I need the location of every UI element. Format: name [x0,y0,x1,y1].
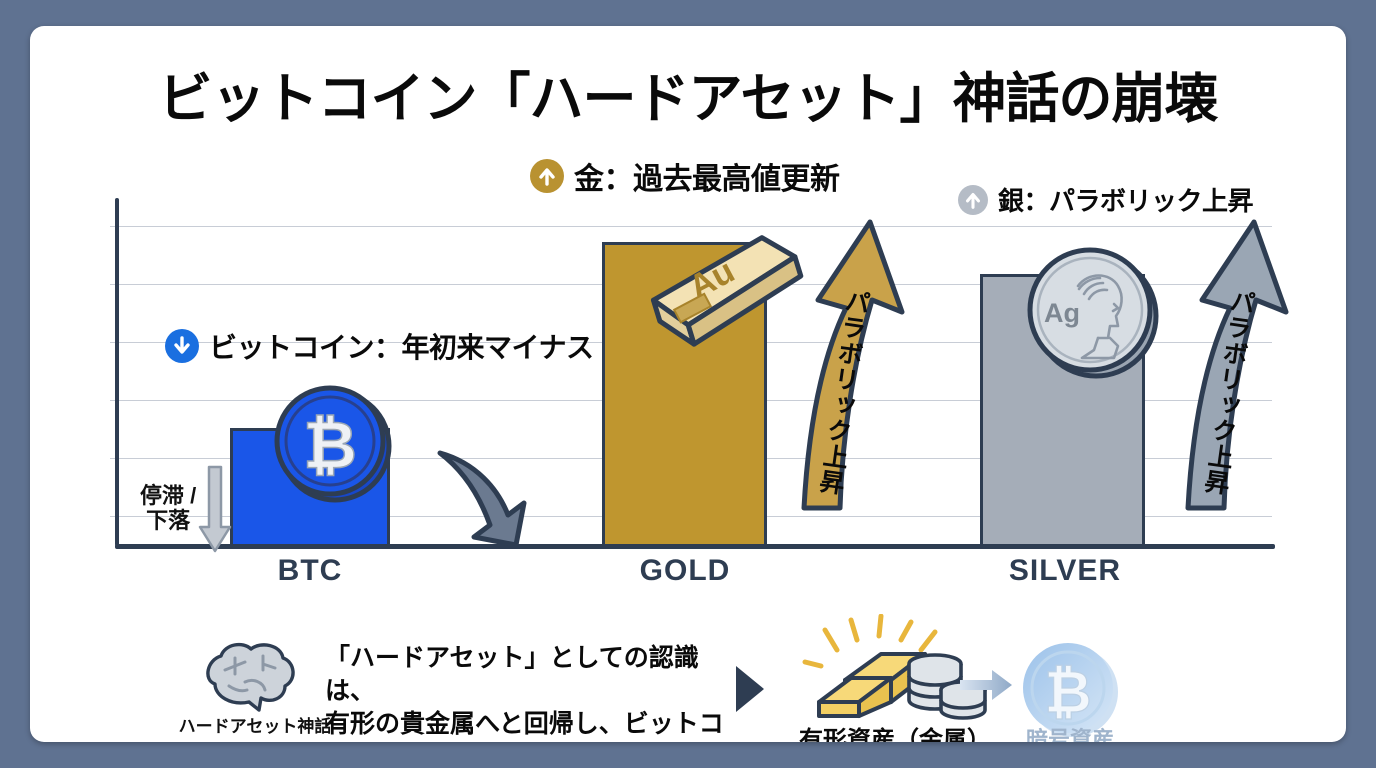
decline-arrow-icon [428,441,538,556]
summary-text: 「ハードアセット」としての認識は、 有形の貴金属へと回帰し、ビットコイン の優位… [325,642,745,742]
infographic-frame: ビットコイン「ハードアセット」神話の崩壊 ₿ [0,0,1376,768]
svg-text:Ag: Ag [1044,298,1080,328]
svg-text:₿: ₿ [303,408,357,482]
crypto-asset-label: 暗号資産 [990,722,1150,742]
callout-gold-label: 金：過去最高値更新 [574,154,840,198]
brain-icon-label: ハードアセット神話 [170,712,340,737]
summary-line-2: 有形の貴金属へと回帰し、ビットコイン [325,708,745,742]
gold-bar-icon: Au [626,222,816,352]
callout-gold: 金：過去最高値更新 [530,154,840,198]
callout-btc-label: ビットコイン：年初来マイナス [209,326,593,366]
stagnation-line2: 下落 [140,509,196,534]
stagnation-line1: 停滞 / [140,484,196,509]
play-triangle-icon [730,662,770,716]
axis-label-gold: GOLD [565,554,805,588]
arrow-up-circle-icon [530,159,564,193]
bitcoin-coin-icon: ₿ [273,384,393,504]
callout-silver: 銀：パラボリック上昇 [958,181,1253,218]
summary-line-1: 「ハードアセット」としての認識は、 [325,642,745,708]
stagnation-note: 停滞 / 下落 [140,463,232,555]
arrow-down-circle-icon [165,329,199,363]
infographic-card: ビットコイン「ハードアセット」神話の崩壊 ₿ [30,26,1346,742]
brain-icon [185,638,315,714]
silver-coin-icon: Ag [1022,242,1162,382]
callout-silver-label: 銀：パラボリック上昇 [998,181,1253,218]
callout-btc: ビットコイン：年初来マイナス [165,326,593,366]
arrow-down-icon [198,463,232,555]
svg-text:₿: ₿ [1044,660,1091,725]
arrow-up-circle-icon [958,185,988,215]
axis-label-silver: SILVER [945,554,1185,588]
transition-arrow-icon [958,664,1016,706]
axis-label-btc: BTC [190,554,430,588]
y-axis [115,198,119,546]
bar-chart: ₿ Au [30,26,1346,742]
